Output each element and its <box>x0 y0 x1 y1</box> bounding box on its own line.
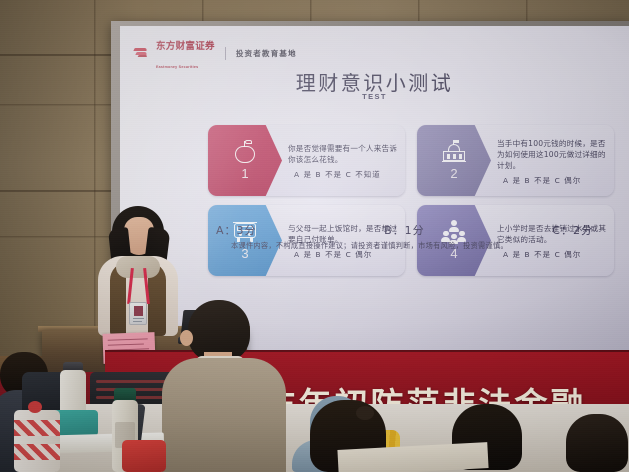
slide-subtitle: TEST <box>120 92 629 101</box>
card-1-chip: 1 <box>208 125 282 196</box>
brand-name-cn: 东方财富证券 <box>156 41 215 52</box>
presenter-scarf <box>116 256 160 278</box>
score-legend: A：3分 B：1分 C：2分 <box>216 222 593 238</box>
card-2-body: 当手中有100元钱的时候，是否为如何使用这100元做过详细的计划。 A 是 B … <box>491 125 614 196</box>
score-c: C：2分 <box>552 222 593 238</box>
question-card: 2 当手中有100元钱的时候，是否为如何使用这100元做过详细的计划。 A 是 … <box>417 125 614 196</box>
card-question: 当手中有100元钱的时候，是否为如何使用这100元做过详细的计划。 <box>497 138 607 171</box>
red-desk-item <box>122 440 166 472</box>
classroom-photo-scene: 东方财富证券 Eastmoney Securities 投资者教育基地 理财意识… <box>0 0 629 472</box>
decorated-cup <box>14 410 60 472</box>
cup-pattern <box>14 420 60 436</box>
card-number: 1 <box>241 167 248 180</box>
slide-disclaimer: 本课件内容，不构成直接操作建议；请投资者谨慎判断，市场有风险，投资需谨慎。 <box>120 241 619 251</box>
student-ear <box>180 330 193 346</box>
brand-subtitle: 投资者教育基地 <box>236 48 297 59</box>
card-options: A 是 B 不是 C 不知道 <box>288 169 398 180</box>
presenter-id-badge <box>129 302 147 325</box>
card-number: 2 <box>450 167 457 180</box>
apple-icon <box>232 140 258 164</box>
score-b: B：1分 <box>384 222 425 238</box>
cup-pattern <box>14 444 60 460</box>
student-body <box>162 358 286 472</box>
badge-photo <box>134 306 143 316</box>
hair-tie <box>356 406 374 420</box>
eastmoney-logo-icon <box>134 47 149 59</box>
question-card: 1 你是否觉得需要有一个人来告诉你该怎么花钱。 A 是 B 不是 C 不知道 <box>208 125 405 196</box>
card-1-body: 你是否觉得需要有一个人来告诉你该怎么花钱。 A 是 B 不是 C 不知道 <box>282 125 405 196</box>
brand-divider <box>225 47 226 60</box>
card-question: 你是否觉得需要有一个人来告诉你该怎么花钱。 <box>288 143 398 165</box>
score-a: A：3分 <box>216 222 257 238</box>
student-right <box>556 414 629 472</box>
card-2-chip: 2 <box>417 125 491 196</box>
student-boy-foreground <box>162 300 286 472</box>
bank-building-icon <box>441 140 467 164</box>
student-head <box>566 414 628 472</box>
question-card-grid: 1 你是否觉得需要有一个人来告诉你该怎么花钱。 A 是 B 不是 C 不知道 <box>208 125 614 276</box>
card-options: A 是 B 不是 C 偶尔 <box>497 175 607 186</box>
cup-topper <box>28 401 42 413</box>
